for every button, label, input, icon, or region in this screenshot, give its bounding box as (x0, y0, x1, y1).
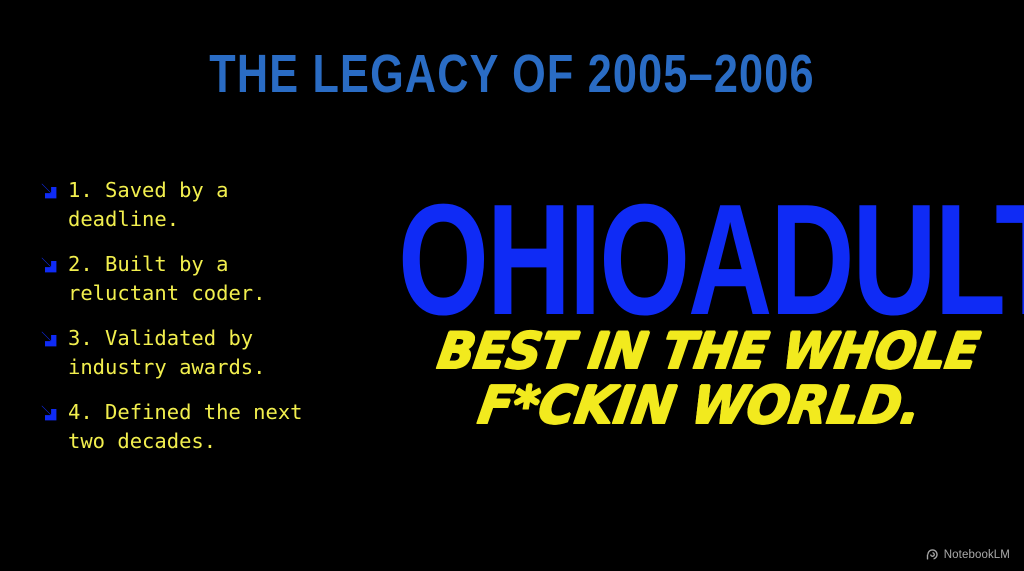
legacy-points-list: 1. Saved by a deadline. 2. Built by a re… (36, 176, 376, 456)
watermark-label: NotebookLM (944, 549, 1010, 561)
list-item-label: 2. Built by a reluctant coder. (68, 250, 376, 308)
page-title: THE LEGACY OF 2005–2006 (102, 45, 921, 103)
list-item: 4. Defined the next two decades. (36, 398, 376, 456)
tagline-line-1: BEST IN THE WHOLE (416, 324, 1001, 379)
brand-lockup: OHIOADULT BEST IN THE WHOLE F*CKIN WORLD… (398, 186, 998, 456)
arrow-down-right-icon (36, 252, 62, 278)
watermark: NotebookLM (926, 548, 1010, 561)
slide-canvas: THE LEGACY OF 2005–2006 1. Saved by a de… (0, 0, 1024, 571)
notebooklm-logo-icon (926, 548, 939, 561)
tagline-line-2: F*CKIN WORLD. (407, 379, 992, 434)
list-item-label: 4. Defined the next two decades. (68, 398, 376, 456)
brand-wordmark: OHIOADULT (398, 186, 842, 334)
brand-tagline: BEST IN THE WHOLE F*CKIN WORLD. (407, 324, 1000, 434)
list-item-label: 1. Saved by a deadline. (68, 176, 376, 234)
list-item: 1. Saved by a deadline. (36, 176, 376, 234)
list-item: 3. Validated by industry awards. (36, 324, 376, 382)
arrow-down-right-icon (36, 400, 62, 426)
list-item-label: 3. Validated by industry awards. (68, 324, 376, 382)
arrow-down-right-icon (36, 326, 62, 352)
list-item: 2. Built by a reluctant coder. (36, 250, 376, 308)
arrow-down-right-icon (36, 178, 62, 204)
